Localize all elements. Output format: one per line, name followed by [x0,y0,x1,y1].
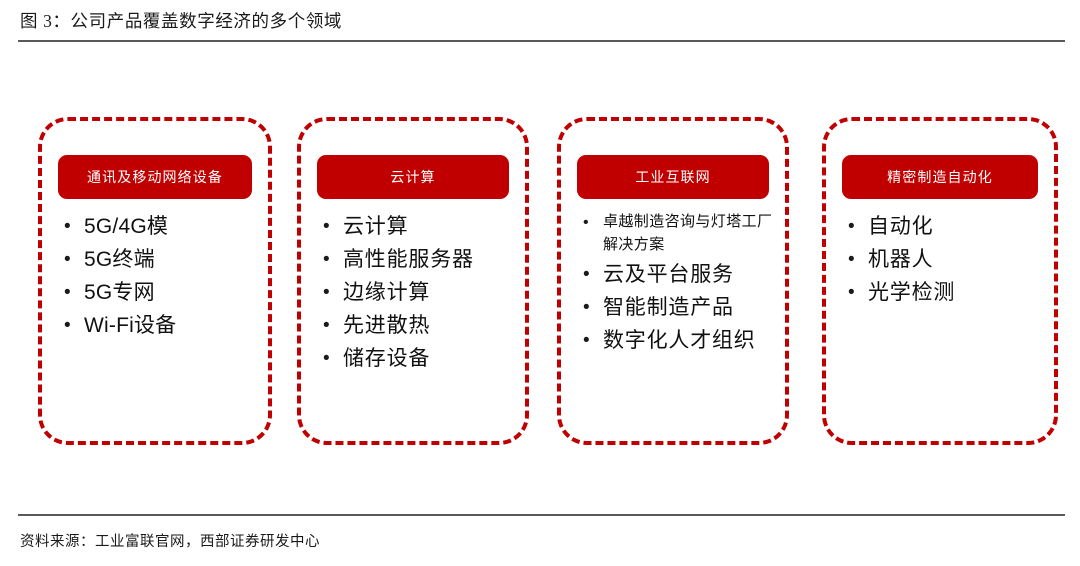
list-item: • 储存设备 [317,343,515,374]
list-item-label: 高性能服务器 [343,244,515,275]
list-item: • 机器人 [842,244,1044,275]
bullet-icon: • [58,211,84,242]
panel-header-label: 通讯及移动网络设备 [87,167,223,187]
panel-header-label: 云计算 [390,167,435,187]
panel-header-badge: 通讯及移动网络设备 [58,155,252,199]
list-item-label: 先进散热 [343,310,515,341]
list-item: • 5G终端 [58,244,258,275]
list-item-label: 5G/4G模 [84,211,258,242]
panel-precision-automation: 精密制造自动化 • 自动化 • 机器人 • 光学检测 [822,117,1058,445]
list-item-label: 5G终端 [84,244,258,275]
bullet-icon: • [317,211,343,242]
list-item-label: 边缘计算 [343,277,515,308]
list-item: • 数字化人才组织 [577,325,775,356]
panel-communication: 通讯及移动网络设备 • 5G/4G模 • 5G终端 • 5G专网 • Wi-Fi… [38,117,272,445]
panel-header-label: 工业互联网 [635,167,711,187]
bullet-icon: • [58,277,84,308]
figure-source: 资料来源：工业富联官网，西部证券研发中心 [20,530,920,554]
list-item-label: 云计算 [343,211,515,242]
bullet-icon: • [58,310,84,341]
panel-bullet-list: • 云计算 • 高性能服务器 • 边缘计算 • 先进散热 • 储存设备 [317,211,515,376]
panel-industrial-internet: 工业互联网 • 卓越制造咨询与灯塔工厂解决方案 • 云及平台服务 • 智能制造产… [557,117,789,445]
bullet-icon: • [58,244,84,275]
list-item-label: 机器人 [868,244,1044,275]
panel-header-badge: 云计算 [317,155,509,199]
list-item-label: 数字化人才组织 [603,325,775,356]
figure-root: 图 3：公司产品覆盖数字经济的多个领域 通讯及移动网络设备 • 5G/4G模 •… [0,0,1080,566]
list-item-label: 卓越制造咨询与灯塔工厂解决方案 [603,211,775,257]
list-item-label: 自动化 [868,211,1044,242]
panel-bullet-list: • 5G/4G模 • 5G终端 • 5G专网 • Wi-Fi设备 [58,211,258,343]
bullet-icon: • [842,211,868,242]
list-item: • 5G/4G模 [58,211,258,242]
panel-header-label: 精密制造自动化 [887,167,993,187]
panel-header-badge: 工业互联网 [577,155,769,199]
list-item-label: 云及平台服务 [603,259,775,290]
list-item: • 云及平台服务 [577,259,775,290]
list-item: • 先进散热 [317,310,515,341]
list-item: • 卓越制造咨询与灯塔工厂解决方案 [577,211,775,257]
bullet-icon: • [577,259,603,290]
list-item: • 高性能服务器 [317,244,515,275]
bullet-icon: • [577,292,603,323]
list-item: • 5G专网 [58,277,258,308]
bullet-icon: • [577,211,603,234]
bullet-icon: • [842,244,868,275]
list-item: • 自动化 [842,211,1044,242]
list-item: • 边缘计算 [317,277,515,308]
list-item-label: 智能制造产品 [603,292,775,323]
list-item: • 智能制造产品 [577,292,775,323]
list-item: • 云计算 [317,211,515,242]
list-item-label: Wi-Fi设备 [84,310,258,341]
list-item-label: 储存设备 [343,343,515,374]
list-item-label: 5G专网 [84,277,258,308]
panel-header-badge: 精密制造自动化 [842,155,1038,199]
list-item: • Wi-Fi设备 [58,310,258,341]
bullet-icon: • [317,277,343,308]
bullet-icon: • [577,325,603,356]
bullet-icon: • [317,310,343,341]
panel-bullet-list: • 自动化 • 机器人 • 光学检测 [842,211,1044,310]
panel-cloud-computing: 云计算 • 云计算 • 高性能服务器 • 边缘计算 • 先进散热 [297,117,529,445]
bullet-icon: • [317,343,343,374]
panel-group: 通讯及移动网络设备 • 5G/4G模 • 5G终端 • 5G专网 • Wi-Fi… [0,0,1080,566]
panel-bullet-list: • 卓越制造咨询与灯塔工厂解决方案 • 云及平台服务 • 智能制造产品 • 数字… [577,211,775,358]
list-item-label: 光学检测 [868,277,1044,308]
bullet-icon: • [842,277,868,308]
source-divider [18,514,1065,516]
list-item: • 光学检测 [842,277,1044,308]
bullet-icon: • [317,244,343,275]
